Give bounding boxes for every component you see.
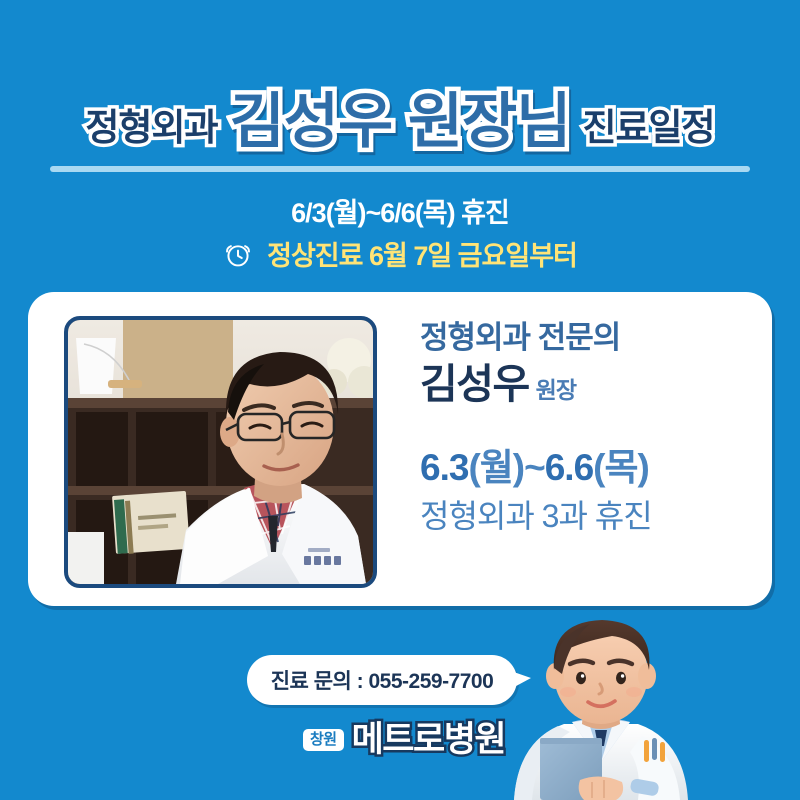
date-start: 6.3 <box>420 447 468 488</box>
closure-date-range: 6.3(월)~6.6(목) <box>420 447 750 490</box>
closure-period-text: 6/3(월)~6/6(목) 휴진 <box>0 191 800 230</box>
alarm-clock-icon <box>223 239 253 269</box>
title-main: 김성우 원장님 <box>230 92 571 152</box>
doctor-info-card: 정형외과 전문의 김성우원장 6.3(월)~6.6(목) 정형외과 3과 휴진 <box>28 292 772 606</box>
resume-notice-text: 정상진료 6월 7일 금요일부터 <box>267 234 577 273</box>
doctor-name-row: 김성우원장 <box>420 362 750 407</box>
logo-region-badge: 창원 <box>303 729 344 751</box>
poster-root: 정형외과 김성우 원장님 진료일정 6/3(월)~6/6(목) 휴진 정상진료 … <box>0 0 800 800</box>
doctor-specialty: 정형외과 전문의 <box>420 320 750 356</box>
header-divider <box>50 166 750 172</box>
doctor-title: 원장 <box>536 377 576 403</box>
closure-department-note: 정형외과 3과 휴진 <box>420 497 750 535</box>
resume-notice-row: 정상진료 6월 7일 금요일부터 <box>0 234 800 273</box>
date-end: 6.6 <box>545 447 593 488</box>
date-end-day: (목) <box>593 447 649 488</box>
doctor-portrait-photo <box>64 316 377 588</box>
doctor-name: 김성우 <box>420 361 529 407</box>
doctor-character-illustration <box>492 612 710 800</box>
phone-inquiry-text: 진료 문의 : 055-259-7700 <box>271 665 494 695</box>
logo-hospital-name: 메트로병원 <box>352 722 506 757</box>
title-suffix: 진료일정 <box>582 109 714 146</box>
doctor-details: 정형외과 전문의 김성우원장 6.3(월)~6.6(목) 정형외과 3과 휴진 <box>420 320 750 536</box>
phone-inquiry-bubble[interactable]: 진료 문의 : 055-259-7700 <box>247 655 517 705</box>
date-start-day: (월) <box>468 447 524 488</box>
hospital-logo: 창원 메트로병원 <box>303 722 505 757</box>
page-title: 정형외과 김성우 원장님 진료일정 <box>0 86 800 158</box>
date-tilde: ~ <box>524 447 545 488</box>
title-prefix: 정형외과 <box>85 109 217 146</box>
